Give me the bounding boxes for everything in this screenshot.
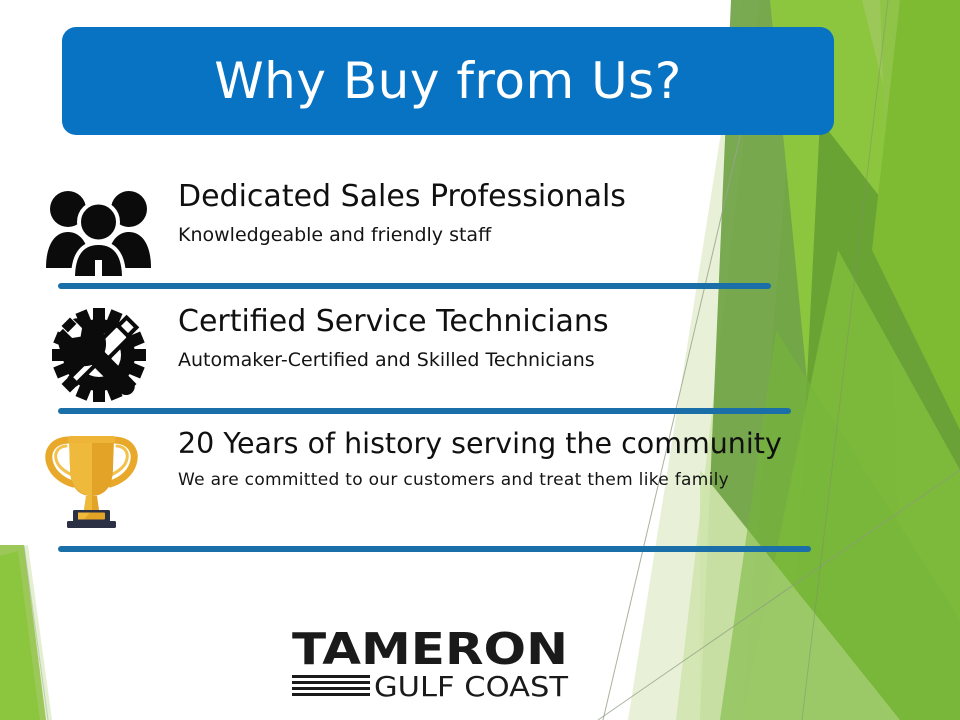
feature-title: Dedicated Sales Professionals [178, 180, 830, 215]
feature-title: Certified Service Technicians [178, 305, 830, 340]
slide: Why Buy from Us? Dedicated S [0, 0, 960, 720]
logo-secondary-text: GULF COAST [374, 670, 569, 702]
page-title: Why Buy from Us? [214, 56, 682, 106]
feature-row: Certified Service Technicians Automaker-… [40, 305, 830, 409]
tameron-gulf-coast-logo: TAMERON GULF COAST TAMERON GULF COAST [292, 620, 570, 702]
feature-subtitle: Knowledgeable and friendly staff [178, 224, 830, 247]
feature-subtitle: We are committed to our customers and tr… [178, 470, 830, 490]
row-divider [58, 283, 771, 289]
row-divider [58, 546, 811, 552]
feature-row: 20 Years of history serving the communit… [40, 428, 830, 532]
group-of-people-icon [40, 180, 158, 280]
feature-row: Dedicated Sales Professionals Knowledgea… [40, 180, 830, 284]
feature-title: 20 Years of history serving the communit… [178, 428, 830, 461]
wrench-screwdriver-gear-icon [40, 305, 158, 405]
title-banner: Why Buy from Us? [62, 27, 834, 135]
logo-stripes [292, 675, 370, 696]
feature-subtitle: Automaker-Certified and Skilled Technici… [178, 349, 830, 372]
row-divider [58, 408, 791, 414]
logo-primary-text: TAMERON [292, 624, 568, 675]
trophy-icon [40, 428, 158, 528]
